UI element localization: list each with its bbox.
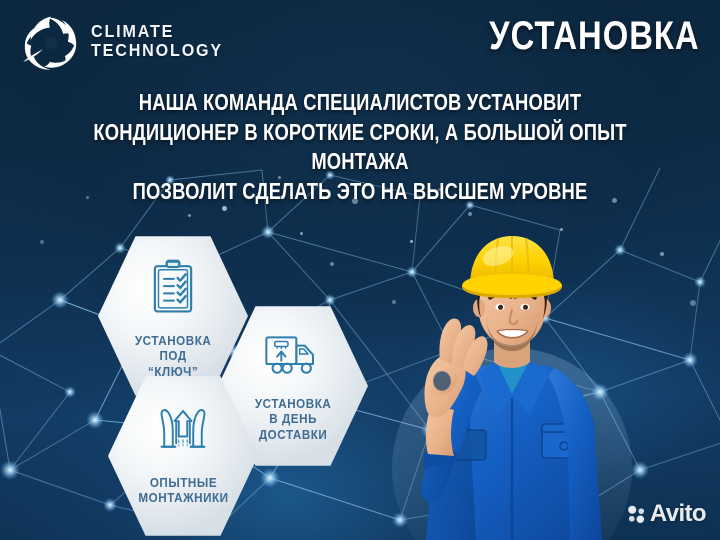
- feature-1-line1: УСТАНОВКА: [135, 334, 211, 348]
- brand-name-line2: TECHNOLOGY: [91, 40, 223, 60]
- spiral-fan-logo-icon: [22, 12, 80, 70]
- headline-line-1: НАША КОМАНДА СПЕЦИАЛИСТОВ УСТАНОВИТ: [72, 88, 648, 118]
- feature-2-line3: ДОСТАВКИ: [259, 428, 328, 442]
- feature-2-line1: УСТАНОВКА: [255, 397, 331, 411]
- hands-holding-arrow-icon: [154, 402, 212, 459]
- headline-line-2: КОНДИЦИОНЕР В КОРОТКИЕ СРОКИ, А БОЛЬШОЙ …: [72, 118, 648, 177]
- feature-3-line1: ОПЫТНЫЕ: [149, 476, 216, 490]
- brand-logo: CLIMATE TECHNOLOGY: [22, 12, 234, 70]
- feature-1-line2: ПОД: [159, 349, 186, 363]
- delivery-truck-icon: [263, 328, 323, 385]
- page-title: УСТАНОВКА: [490, 14, 700, 59]
- avito-wordmark: Avito: [650, 500, 706, 528]
- headline-line-3: ПОЗВОЛИТ СДЕЛАТЬ ЭТО НА ВЫСШЕМ УРОВНЕ: [72, 177, 648, 207]
- feature-hex-caption: УСТАНОВКА ПОД “КЛЮЧ”: [135, 334, 211, 380]
- avito-watermark: Avito: [627, 500, 706, 528]
- feature-hex-caption: УСТАНОВКА В ДЕНЬ ДОСТАВКИ: [255, 397, 331, 443]
- brand-wordmark: CLIMATE TECHNOLOGY: [91, 22, 223, 59]
- headline-text: НАША КОМАНДА СПЕЦИАЛИСТОВ УСТАНОВИТ КОНД…: [0, 88, 720, 206]
- feature-3-line2: МОНТАЖНИКИ: [138, 491, 228, 505]
- feature-hex-caption: ОПЫТНЫЕ МОНТАЖНИКИ: [138, 476, 228, 507]
- avito-dots-icon: [627, 505, 646, 524]
- brand-name-line1: CLIMATE: [91, 21, 174, 41]
- feature-2-line2: В ДЕНЬ: [269, 412, 317, 426]
- clipboard-checklist-icon: [144, 258, 202, 321]
- worker-ok-gesture-photo: [378, 218, 646, 540]
- promo-poster: CLIMATE TECHNOLOGY УСТАНОВКА НАША КОМАНД…: [0, 0, 720, 540]
